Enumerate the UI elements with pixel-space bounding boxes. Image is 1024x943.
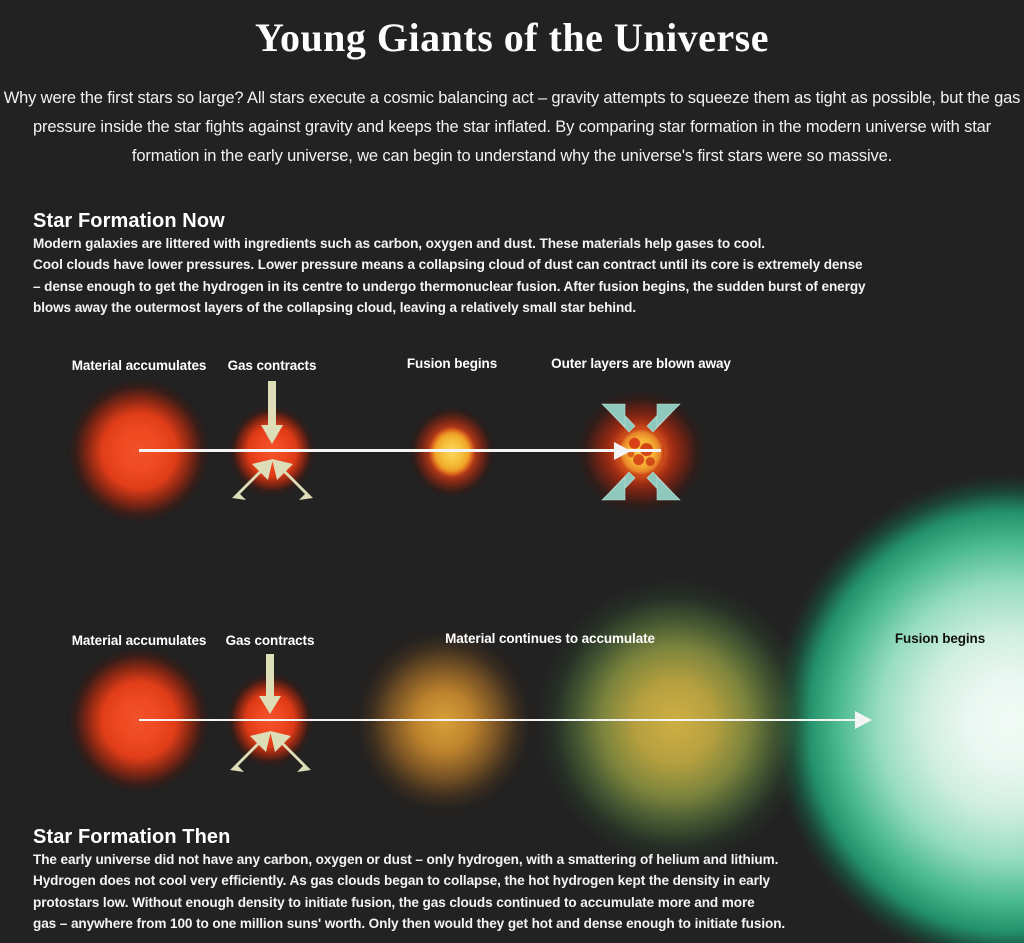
now-label-material-accumulates: Material accumulates	[72, 358, 207, 373]
now-label-fusion-begins: Fusion begins	[407, 356, 497, 371]
now-material-accumulates-cloud	[65, 376, 213, 526]
page-title: Young Giants of the Universe	[0, 14, 1024, 61]
star-formation-now-block: Star Formation Now Modern galaxies are l…	[33, 210, 933, 318]
then-heading: Star Formation Then	[33, 826, 833, 849]
star-formation-then-block: Star Formation Then The early universe d…	[33, 826, 833, 934]
then-label-fusion-begins: Fusion begins	[895, 631, 985, 646]
now-heading: Star Formation Now	[33, 210, 933, 233]
now-blown-away-core	[618, 428, 664, 476]
now-body-line-1: Modern galaxies are littered with ingred…	[33, 233, 933, 254]
now-label-gas-contracts: Gas contracts	[228, 358, 317, 373]
then-label-material-accumulates: Material accumulates	[72, 633, 207, 648]
then-material-accumulates-cloud	[65, 644, 213, 796]
then-label-material-continues-to-accumulate: Material continues to accumulate	[445, 631, 655, 646]
now-body: Modern galaxies are littered with ingred…	[33, 233, 933, 318]
then-timeline-arrowhead	[855, 711, 872, 729]
then-body-line-2: Hydrogen does not cool very efficiently.…	[33, 870, 833, 891]
then-gas-contracts-cloud	[226, 672, 314, 768]
now-body-line-4: blows away the outermost layers of the c…	[33, 297, 933, 318]
then-body: The early universe did not have any carb…	[33, 849, 833, 934]
now-timeline-line	[139, 449, 661, 452]
then-body-line-1: The early universe did not have any carb…	[33, 849, 833, 870]
then-label-gas-contracts: Gas contracts	[226, 633, 315, 648]
then-accumulating-cloud-small	[349, 624, 539, 820]
then-body-line-3: protostars low. Without enough density t…	[33, 892, 833, 913]
now-fusion-begins-halo	[408, 405, 496, 499]
now-label-outer-layers-blown-away: Outer layers are blown away	[551, 356, 731, 371]
now-blown-away-halo	[575, 389, 707, 515]
then-accumulating-cloud-large	[536, 579, 814, 865]
now-gas-contracts-cloud	[228, 405, 316, 497]
now-body-line-3: – dense enough to get the hydrogen in it…	[33, 276, 933, 297]
then-body-line-4: gas – anywhere from 100 to one million s…	[33, 913, 833, 934]
now-timeline-arrowhead	[614, 442, 631, 460]
intro-paragraph: Why were the first stars so large? All s…	[0, 84, 1024, 171]
then-timeline-line	[139, 719, 857, 721]
now-body-line-2: Cool clouds have lower pressures. Lower …	[33, 254, 933, 275]
infographic-root: Young Giants of the Universe Why were th…	[0, 0, 1024, 943]
now-fusion-begins-core	[429, 427, 475, 477]
